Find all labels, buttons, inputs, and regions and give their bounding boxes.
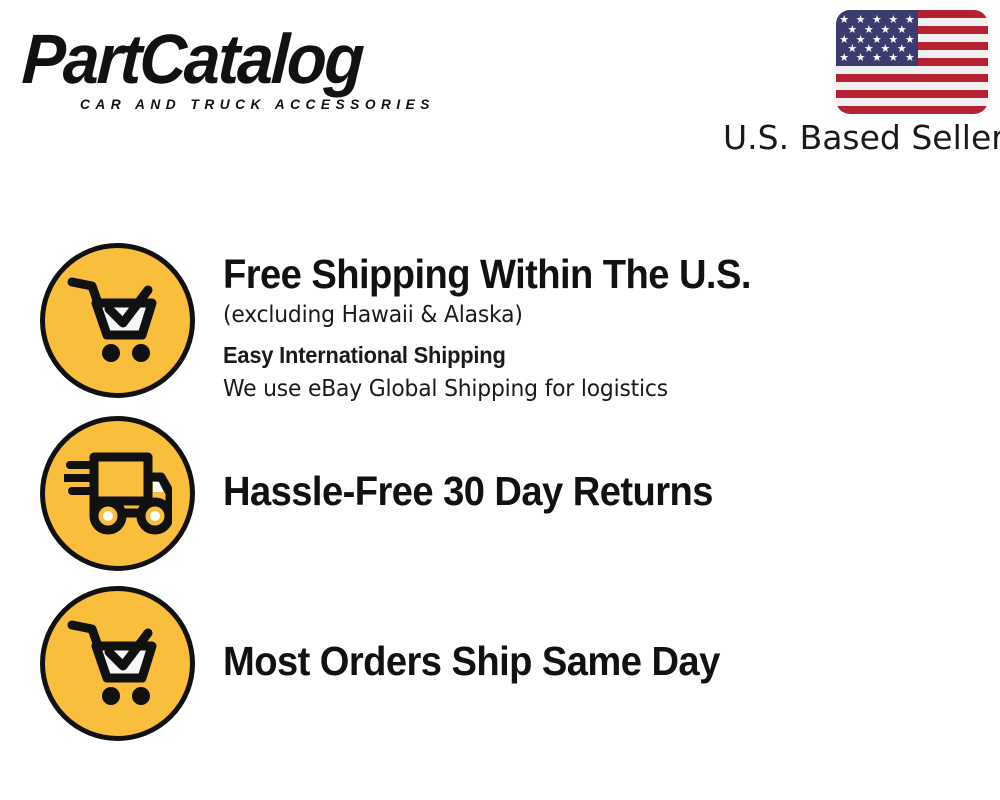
- brand-logo[interactable]: PartCatalog CAR AND TRUCK ACCESSORIES: [24, 24, 494, 114]
- feature-row: Most Orders Ship Same Day: [40, 586, 980, 741]
- feature-subtext: (excluding Hawaii & Alaska): [223, 299, 942, 331]
- delivery-truck-icon: [40, 416, 195, 571]
- feature-row: Hassle-Free 30 Day Returns: [40, 416, 980, 571]
- flag-canton: ★★★★★ ★★★★ ★★★★★ ★★★★ ★★★★★: [836, 10, 918, 66]
- brand-wordmark: PartCatalog: [21, 24, 462, 94]
- feature-text: Free Shipping Within The U.S. (excluding…: [195, 243, 980, 405]
- feature-text: Hassle-Free 30 Day Returns: [195, 416, 980, 516]
- brand-tagline: CAR AND TRUCK ACCESSORIES: [80, 96, 435, 112]
- feature-heading: Free Shipping Within The U.S.: [223, 249, 927, 299]
- feature-text: Most Orders Ship Same Day: [195, 586, 980, 686]
- shopping-cart-check-icon: [40, 586, 195, 741]
- feature-subtext: We use eBay Global Shipping for logistic…: [223, 373, 942, 405]
- header-bar: PartCatalog CAR AND TRUCK ACCESSORIES ★★…: [0, 0, 1000, 175]
- us-based-seller-label: U.S. Based Seller: [723, 118, 988, 158]
- us-flag-icon: ★★★★★ ★★★★ ★★★★★ ★★★★ ★★★★★: [836, 10, 988, 114]
- feature-row: Free Shipping Within The U.S. (excluding…: [40, 243, 980, 405]
- flag-stripe: [836, 106, 988, 114]
- feature-subtext-bold: Easy International Shipping: [223, 337, 942, 373]
- flag-stripe: [836, 74, 988, 82]
- flag-stripe: [836, 90, 988, 98]
- shopping-cart-check-icon: [40, 243, 195, 398]
- feature-heading: Hassle-Free 30 Day Returns: [223, 466, 927, 516]
- feature-heading: Most Orders Ship Same Day: [223, 636, 927, 686]
